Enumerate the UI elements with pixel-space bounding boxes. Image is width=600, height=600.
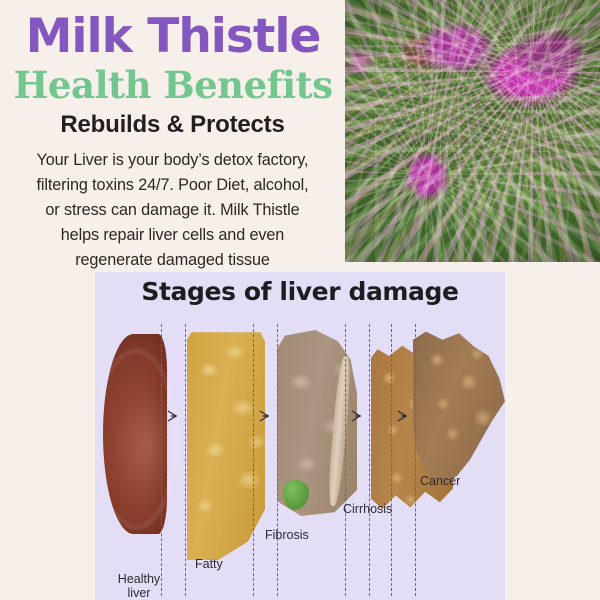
stage-label-healthy: Healthy liver <box>109 572 169 600</box>
stage-label-fibrosis: Fibrosis <box>265 528 309 542</box>
right-arrow-icon <box>351 410 363 422</box>
stage-label-healthy-line1: Healthy <box>118 572 160 586</box>
page-subtitle: Health Benefits <box>8 66 338 104</box>
stage-divider <box>415 324 416 596</box>
liver-damage-diagram: Stages of liver damage <box>95 272 505 600</box>
liver-lobe-contour <box>95 348 179 530</box>
liver-cancer-shape <box>413 330 505 492</box>
right-arrow-icon <box>259 410 271 422</box>
stage-label-healthy-line2: liver <box>128 586 151 600</box>
stage-divider <box>391 324 392 596</box>
stage-divider <box>161 324 162 596</box>
stage-divider <box>253 324 254 596</box>
section-headline: Rebuilds & Protects <box>0 112 345 138</box>
stage-divider <box>369 324 370 596</box>
body-copy-line: or stress can damage it. Milk Thistle <box>6 198 339 223</box>
stage-divider <box>185 324 186 596</box>
body-copy-line: filtering toxins 24/7. Poor Diet, alcoho… <box>6 173 339 198</box>
body-copy-line: helps repair liver cells and even <box>6 223 339 248</box>
right-arrow-icon <box>397 410 409 422</box>
stage-label-cancer: Cancer <box>420 474 460 488</box>
infographic-canvas: Milk Thistle Health Benefits Rebuilds & … <box>0 0 600 600</box>
milk-thistle-photo <box>345 0 600 262</box>
stage-label-fatty: Fatty <box>195 557 223 571</box>
stage-divider <box>345 324 346 596</box>
right-arrow-icon <box>167 410 179 422</box>
body-copy: Your Liver is your body’s detox factory,… <box>6 148 339 273</box>
body-copy-line: Your Liver is your body’s detox factory, <box>6 148 339 173</box>
diagram-title: Stages of liver damage <box>95 278 505 306</box>
text-column: Milk Thistle Health Benefits Rebuilds & … <box>0 0 345 272</box>
body-copy-line: regenerate damaged tissue <box>6 248 339 273</box>
stage-divider <box>277 324 278 596</box>
photo-vignette <box>345 0 600 262</box>
page-title: Milk Thistle <box>8 13 338 60</box>
stage-label-cirrhosis: Cirrhosis <box>343 502 392 516</box>
liver-stage-healthy <box>103 334 167 534</box>
